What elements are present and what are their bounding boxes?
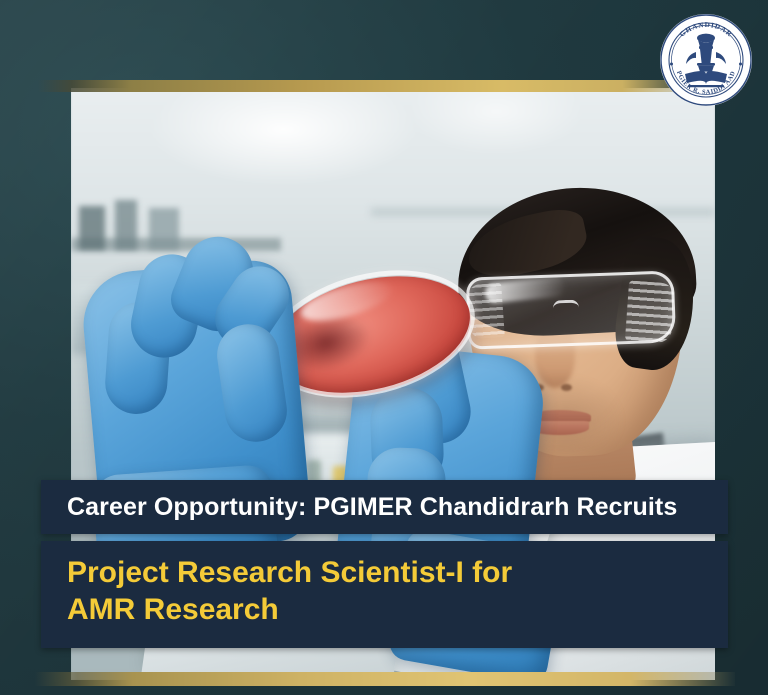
headline-text: Career Opportunity: PGIMER Chandidrarh R… <box>41 493 677 522</box>
goggles-bridge <box>553 300 580 317</box>
headline-banner: Career Opportunity: PGIMER Chandidrarh R… <box>41 480 728 534</box>
subheadline-line-1: Project Research Scientist-I for <box>67 555 728 592</box>
nostril-right <box>561 384 572 391</box>
subheadline-banner: Project Research Scientist-I for AMR Res… <box>41 541 728 648</box>
recruitment-poster: Career Opportunity: PGIMER Chandidrarh R… <box>0 0 768 695</box>
lab-bottle-2 <box>115 200 137 250</box>
lab-bottle-3 <box>149 208 179 250</box>
gold-accent-bar-bottom <box>35 672 735 686</box>
subheadline-line-2: AMR Research <box>67 592 728 629</box>
goggles-vent-right <box>625 280 675 343</box>
gold-accent-bar-top <box>38 80 702 92</box>
pgimer-emblem: GHANDIDAR PGIER R. SAIDDI AAD <box>658 12 754 108</box>
pgimer-seal-icon: GHANDIDAR PGIER R. SAIDDI AAD <box>658 12 754 108</box>
lab-bottle-1 <box>79 206 105 250</box>
